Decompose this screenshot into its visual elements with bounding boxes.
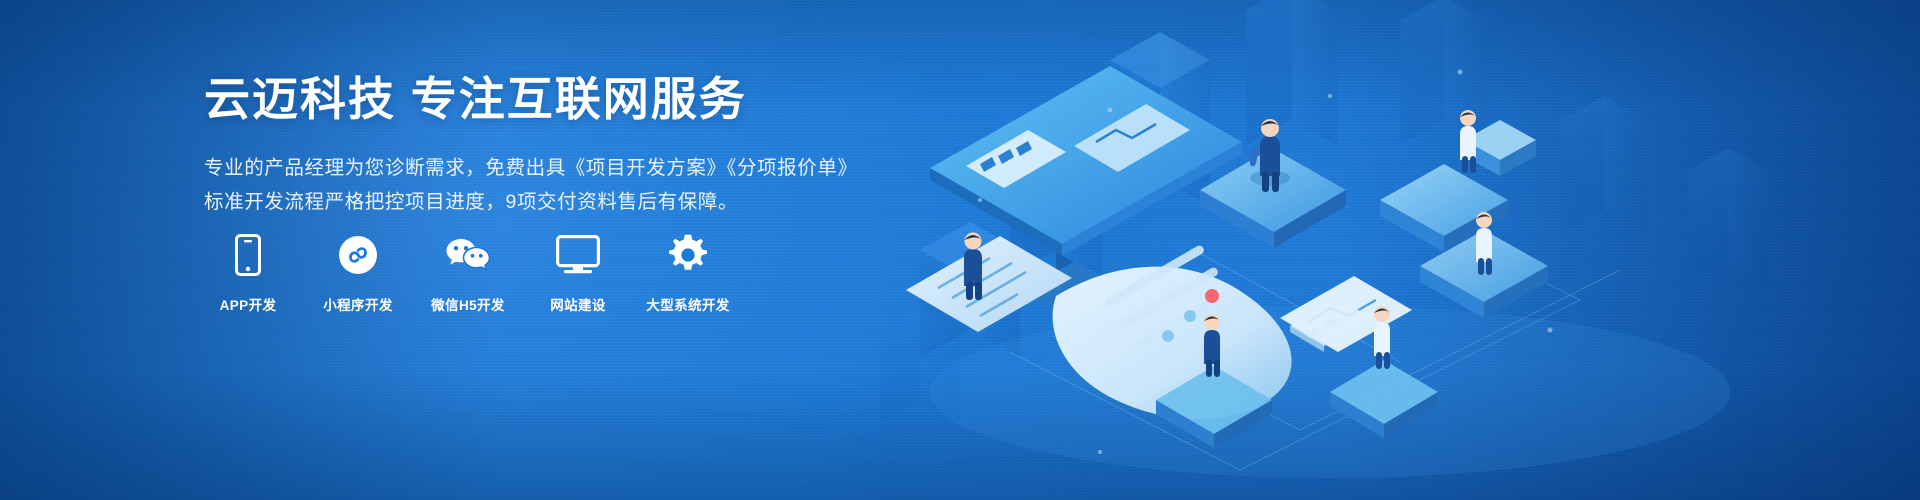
monitor-icon — [556, 232, 600, 278]
service-list: APP开发 小程序开发 — [206, 232, 730, 314]
gear-icon — [667, 232, 709, 278]
service-label: APP开发 — [220, 294, 277, 314]
banner-copy: 云迈科技 专注互联网服务 专业的产品经理为您诊断需求，免费出具《项目开发方案》《… — [204, 72, 924, 219]
subtitle-line-1: 专业的产品经理为您诊断需求，免费出具《项目开发方案》《分项报价单》 — [204, 152, 924, 186]
mobile-phone-icon — [235, 232, 261, 278]
service-label: 微信H5开发 — [431, 294, 505, 314]
service-item-large-system[interactable]: 大型系统开发 — [646, 232, 730, 314]
service-label: 大型系统开发 — [646, 294, 729, 314]
banner-subtitle: 专业的产品经理为您诊断需求，免费出具《项目开发方案》《分项报价单》 标准开发流程… — [204, 152, 924, 219]
service-item-wechat-h5[interactable]: 微信H5开发 — [426, 232, 510, 314]
service-label: 网站建设 — [550, 294, 606, 314]
service-label: 小程序开发 — [323, 294, 393, 314]
hero-banner: 云迈科技 专注互联网服务 专业的产品经理为您诊断需求，免费出具《项目开发方案》《… — [0, 0, 1920, 500]
service-item-mini-program[interactable]: 小程序开发 — [316, 232, 400, 314]
service-item-app[interactable]: APP开发 — [206, 232, 290, 314]
subtitle-line-2: 标准开发流程严格把控项目进度，9项交付资料售后有保障。 — [204, 186, 924, 220]
service-item-website[interactable]: 网站建设 — [536, 232, 620, 314]
hero-illustration — [860, 0, 1920, 500]
page-title: 云迈科技 专注互联网服务 — [204, 72, 924, 126]
mini-program-icon — [338, 232, 378, 278]
wechat-icon — [445, 232, 491, 278]
